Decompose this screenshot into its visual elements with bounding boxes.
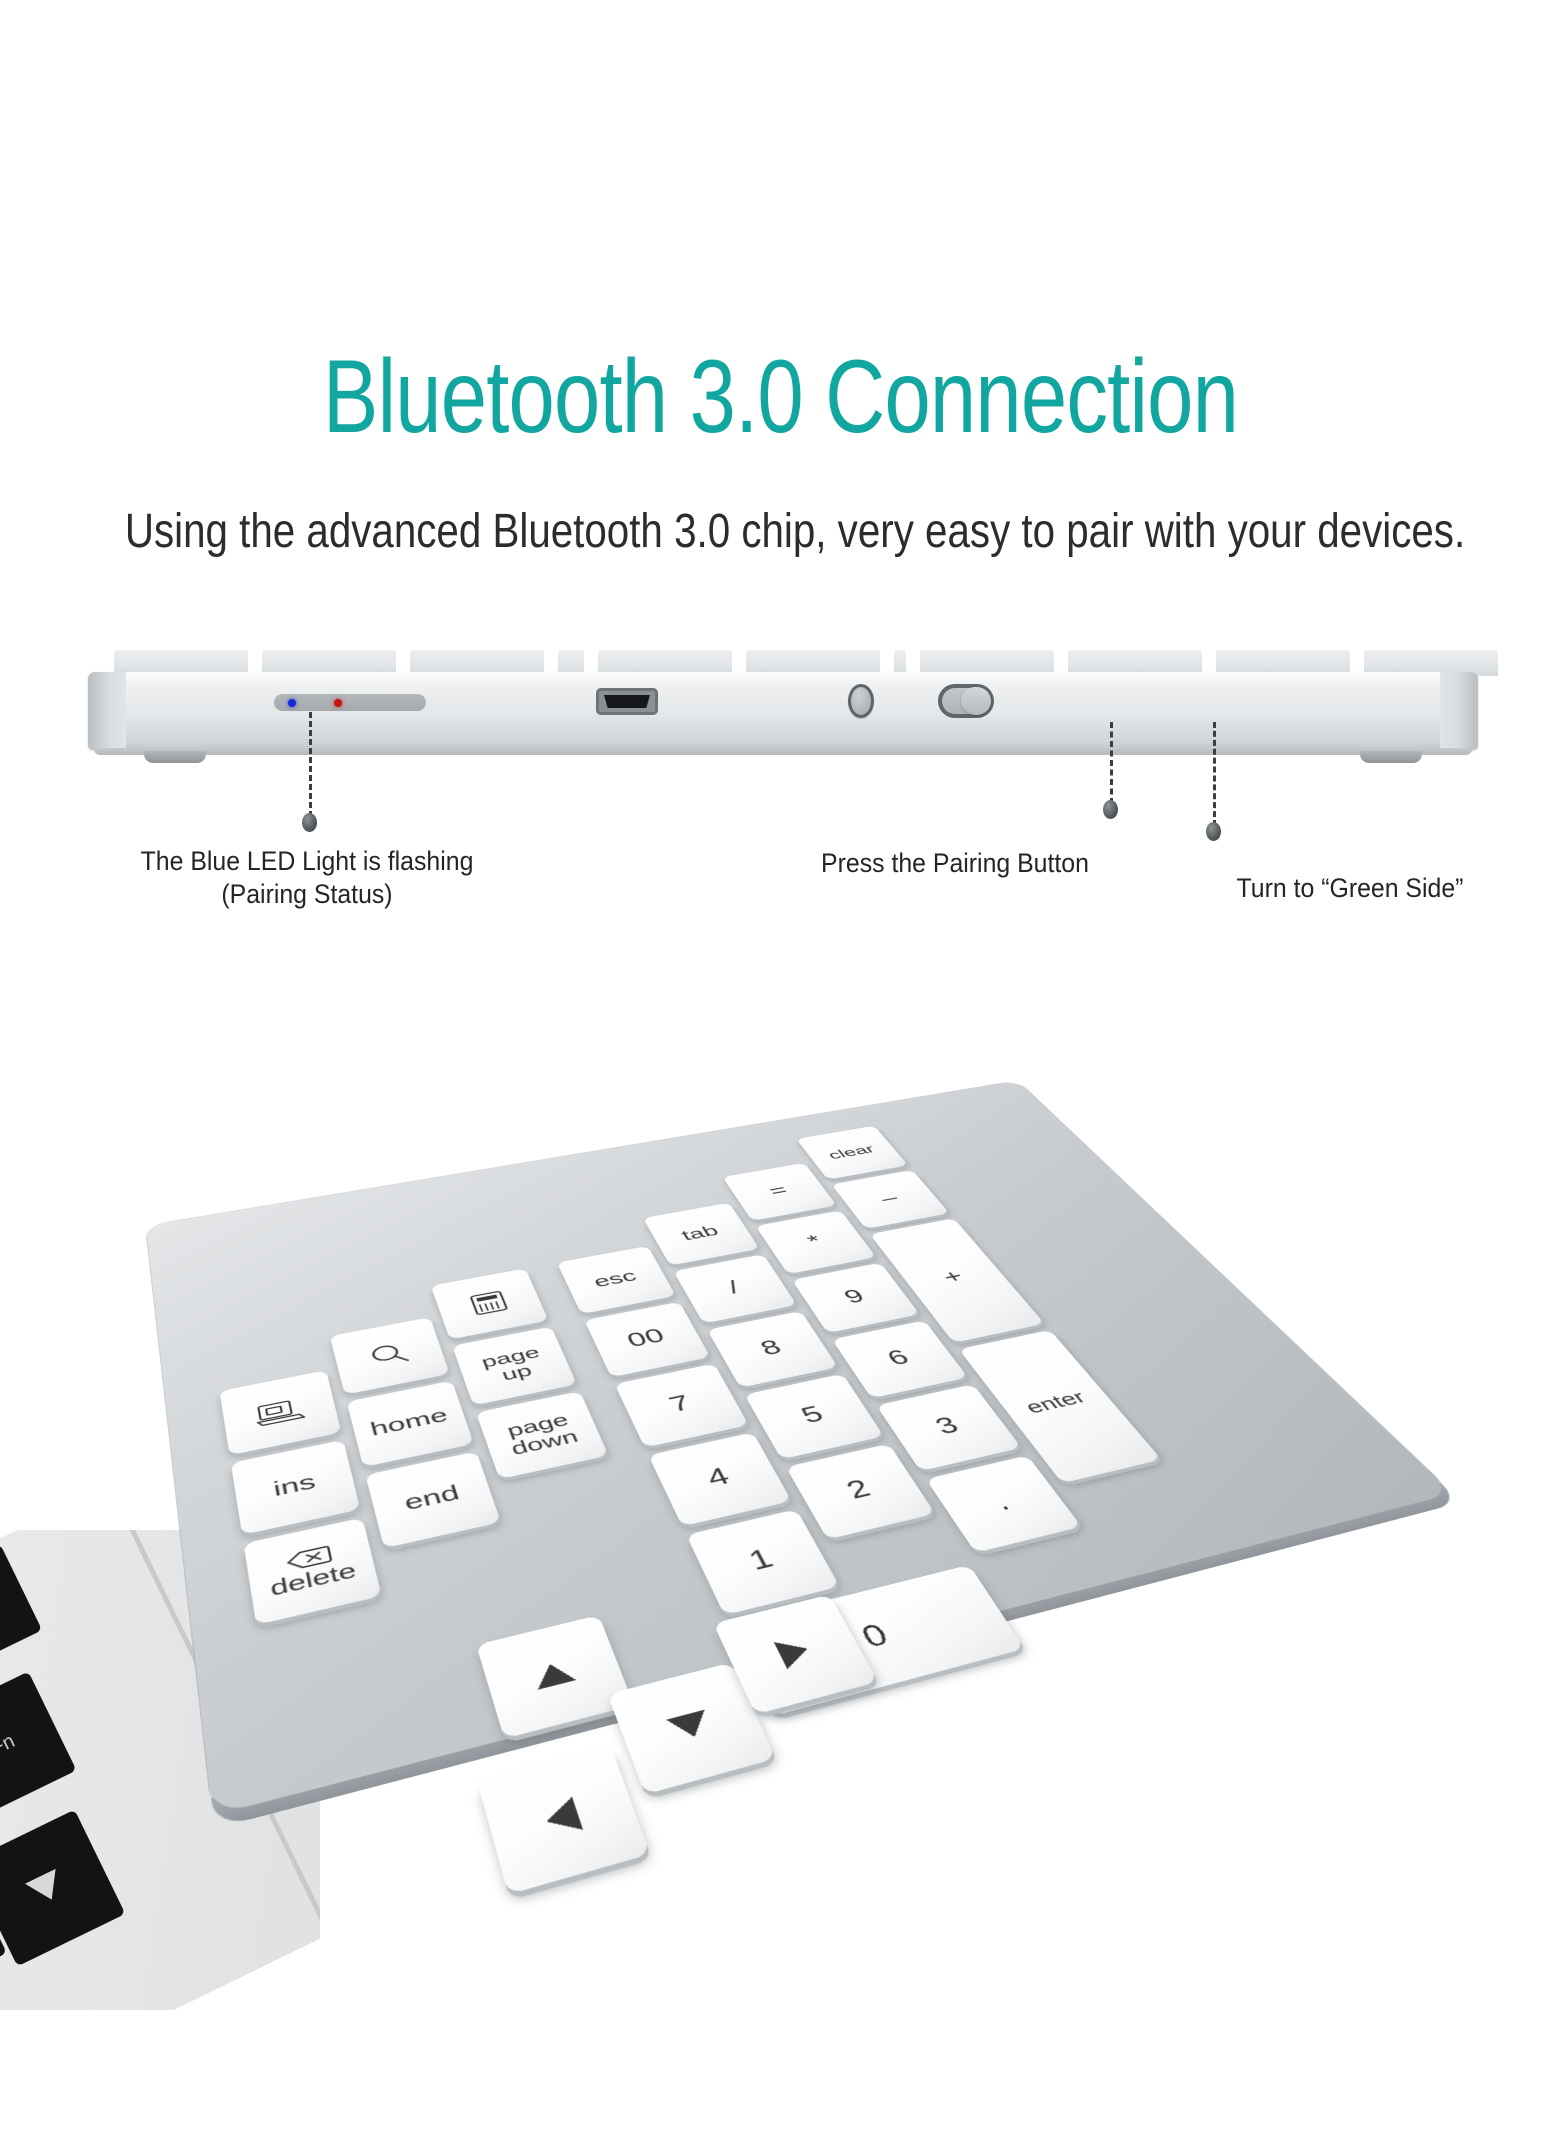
power-switch[interactable]: [938, 684, 994, 718]
keyboard-chassis: [88, 672, 1478, 750]
rubber-foot-right: [1360, 751, 1422, 763]
arrow-left-icon: [536, 1794, 587, 1842]
rubber-foot-left: [144, 751, 206, 763]
callout-label: Turn to “Green Side”: [1198, 872, 1502, 905]
callout-leader-line: [309, 712, 312, 817]
usb-port-inner: [604, 695, 650, 708]
key-label: =: [766, 1183, 792, 1200]
blue-led-icon: [288, 699, 296, 707]
calculator-icon: [467, 1289, 510, 1316]
page-subtitle: Using the advanced Bluetooth 3.0 chip, v…: [125, 508, 1436, 556]
callout-leader-line: [1213, 722, 1216, 826]
key-label: *: [804, 1233, 826, 1251]
key-arrow-left[interactable]: [477, 1747, 650, 1895]
callout-leader-line: [1110, 722, 1113, 804]
callout-dot: [302, 813, 317, 832]
key-label: –: [876, 1190, 903, 1207]
page-title: Bluetooth 3.0 Connection: [156, 345, 1405, 449]
key-label: clear: [825, 1143, 877, 1161]
callout-dot: [1206, 822, 1221, 841]
callout-label: Press the Pairing Button: [803, 847, 1107, 880]
power-switch-knob[interactable]: [961, 687, 991, 715]
numeric-keypad: inshomepage updeleteendpage downesctab=c…: [168, 905, 1288, 1805]
key-label: +: [938, 1267, 968, 1287]
led-indicator-window: [274, 694, 426, 711]
arrow-down-icon: [662, 1707, 717, 1746]
key-label: /: [725, 1279, 744, 1298]
red-led-icon: [334, 699, 342, 707]
callout-dot: [1103, 800, 1118, 819]
key-label: tab: [679, 1223, 722, 1243]
micro-usb-port: [596, 688, 658, 715]
callout-label: The Blue LED Light is flashing (Pairing …: [95, 845, 518, 911]
keypad-plate: inshomepage updeleteendpage downesctab=c…: [146, 1081, 1453, 1816]
keyboard-side-profile: [88, 650, 1478, 795]
key-label: esc: [591, 1268, 640, 1291]
pairing-button[interactable]: [848, 684, 874, 718]
key-label: 9: [840, 1287, 869, 1308]
triangle-down-icon: [20, 1864, 73, 1913]
chassis-bottom-edge: [94, 748, 1472, 755]
